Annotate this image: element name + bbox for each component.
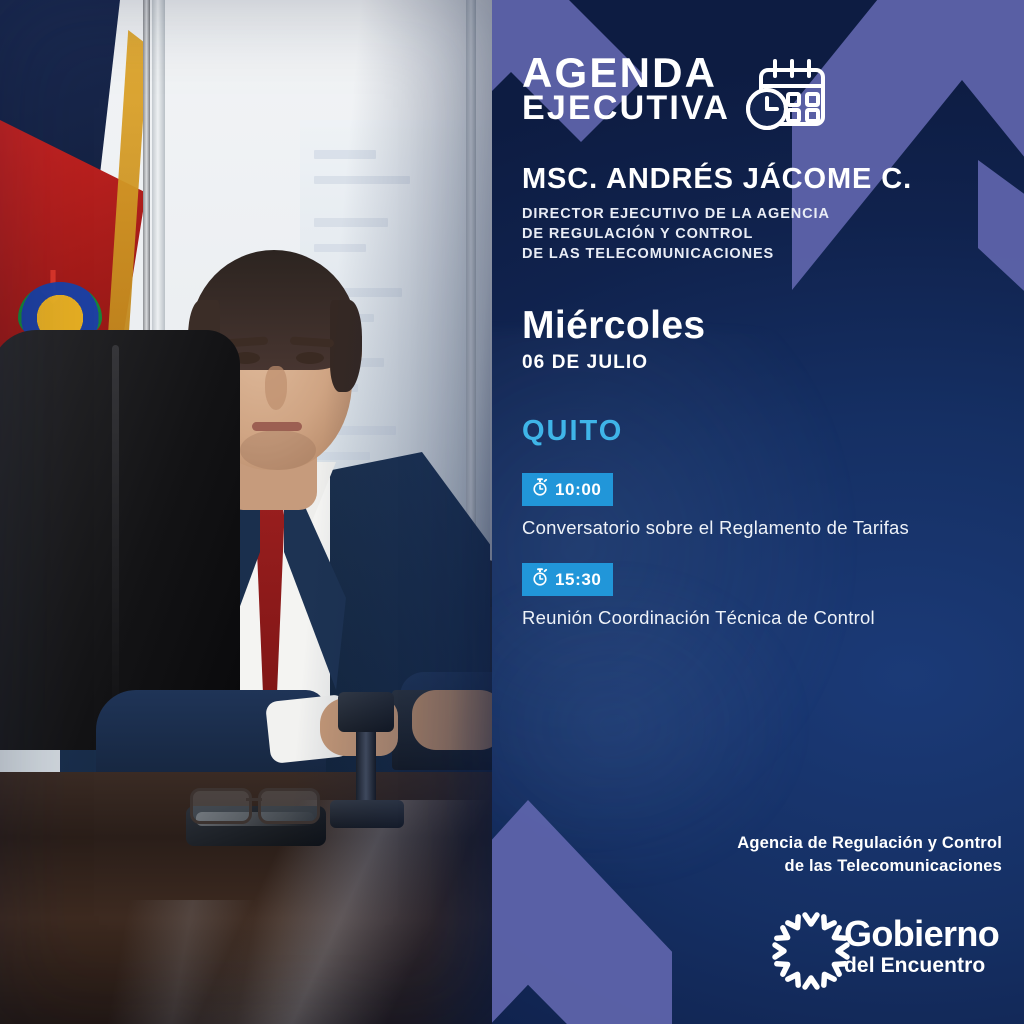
- date-label: 06 DE JULIO: [522, 352, 706, 374]
- event-item: 15:30 Reunión Coordinación Técnica de Co…: [522, 563, 1000, 629]
- logo-line2: del Encuentro: [844, 954, 999, 978]
- stopwatch-icon: [532, 568, 548, 591]
- calendar-clock-icon: [744, 58, 830, 139]
- event-time: 15:30: [555, 570, 601, 590]
- eyeglasses: [190, 784, 320, 820]
- desk-microphone: [330, 800, 404, 828]
- stopwatch-icon: [532, 478, 548, 501]
- person-role-line2: DE REGULACIÓN Y CONTROL: [522, 224, 992, 244]
- gobierno-logo: Gobierno del Encuentro: [768, 906, 1006, 1006]
- eye: [296, 352, 324, 364]
- hair: [330, 300, 362, 392]
- chair-seam: [112, 345, 119, 705]
- director-photo: [0, 0, 492, 1024]
- date-block: Miércoles 06 DE JULIO: [522, 306, 706, 374]
- page-title-line1: AGENDA: [522, 54, 730, 93]
- hand: [412, 690, 492, 750]
- chin-shadow: [240, 430, 316, 470]
- person-role-line1: DIRECTOR EJECUTIVO DE LA AGENCIA: [522, 204, 992, 224]
- time-badge: 10:00: [522, 473, 613, 506]
- agency-name-line1: Agencia de Regulación y Control: [737, 832, 1002, 855]
- event-time: 10:00: [555, 480, 601, 500]
- poster-header: AGENDA EJECUTIVA: [522, 54, 992, 264]
- event-item: 10:00 Conversatorio sobre el Reglamento …: [522, 473, 1000, 539]
- nose: [265, 366, 287, 410]
- sunburst-icon: [768, 908, 854, 994]
- info-panel: AGENDA EJECUTIVA: [492, 0, 1024, 1024]
- event-title: Reunión Coordinación Técnica de Control: [522, 607, 1000, 629]
- page-title-line2: EJECUTIVA: [522, 93, 730, 124]
- executive-chair: [0, 330, 240, 750]
- person-role-line3: DE LAS TELECOMUNICACIONES: [522, 244, 992, 264]
- agenda-poster: AGENDA EJECUTIVA: [0, 0, 1024, 1024]
- person-role: DIRECTOR EJECUTIVO DE LA AGENCIA DE REGU…: [522, 204, 992, 264]
- title-row: AGENDA EJECUTIVA: [522, 54, 992, 139]
- city-label: QUITO: [522, 415, 623, 448]
- logo-text: Gobierno del Encuentro: [844, 916, 999, 978]
- time-badge: 15:30: [522, 563, 613, 596]
- desk-reflection: [0, 900, 300, 1024]
- flag-pole: [143, 0, 150, 330]
- event-title: Conversatorio sobre el Reglamento de Tar…: [522, 517, 1000, 539]
- title-block: AGENDA EJECUTIVA: [522, 54, 730, 124]
- events-list: 10:00 Conversatorio sobre el Reglamento …: [522, 473, 1000, 653]
- person-name: MSC. ANDRÉS JÁCOME C.: [522, 163, 992, 196]
- desk-microphone: [338, 692, 394, 732]
- logo-line1: Gobierno: [844, 916, 999, 952]
- agency-footer: Agencia de Regulación y Control de las T…: [737, 832, 1002, 878]
- agency-name-line2: de las Telecomunicaciones: [737, 855, 1002, 878]
- weekday-label: Miércoles: [522, 306, 706, 345]
